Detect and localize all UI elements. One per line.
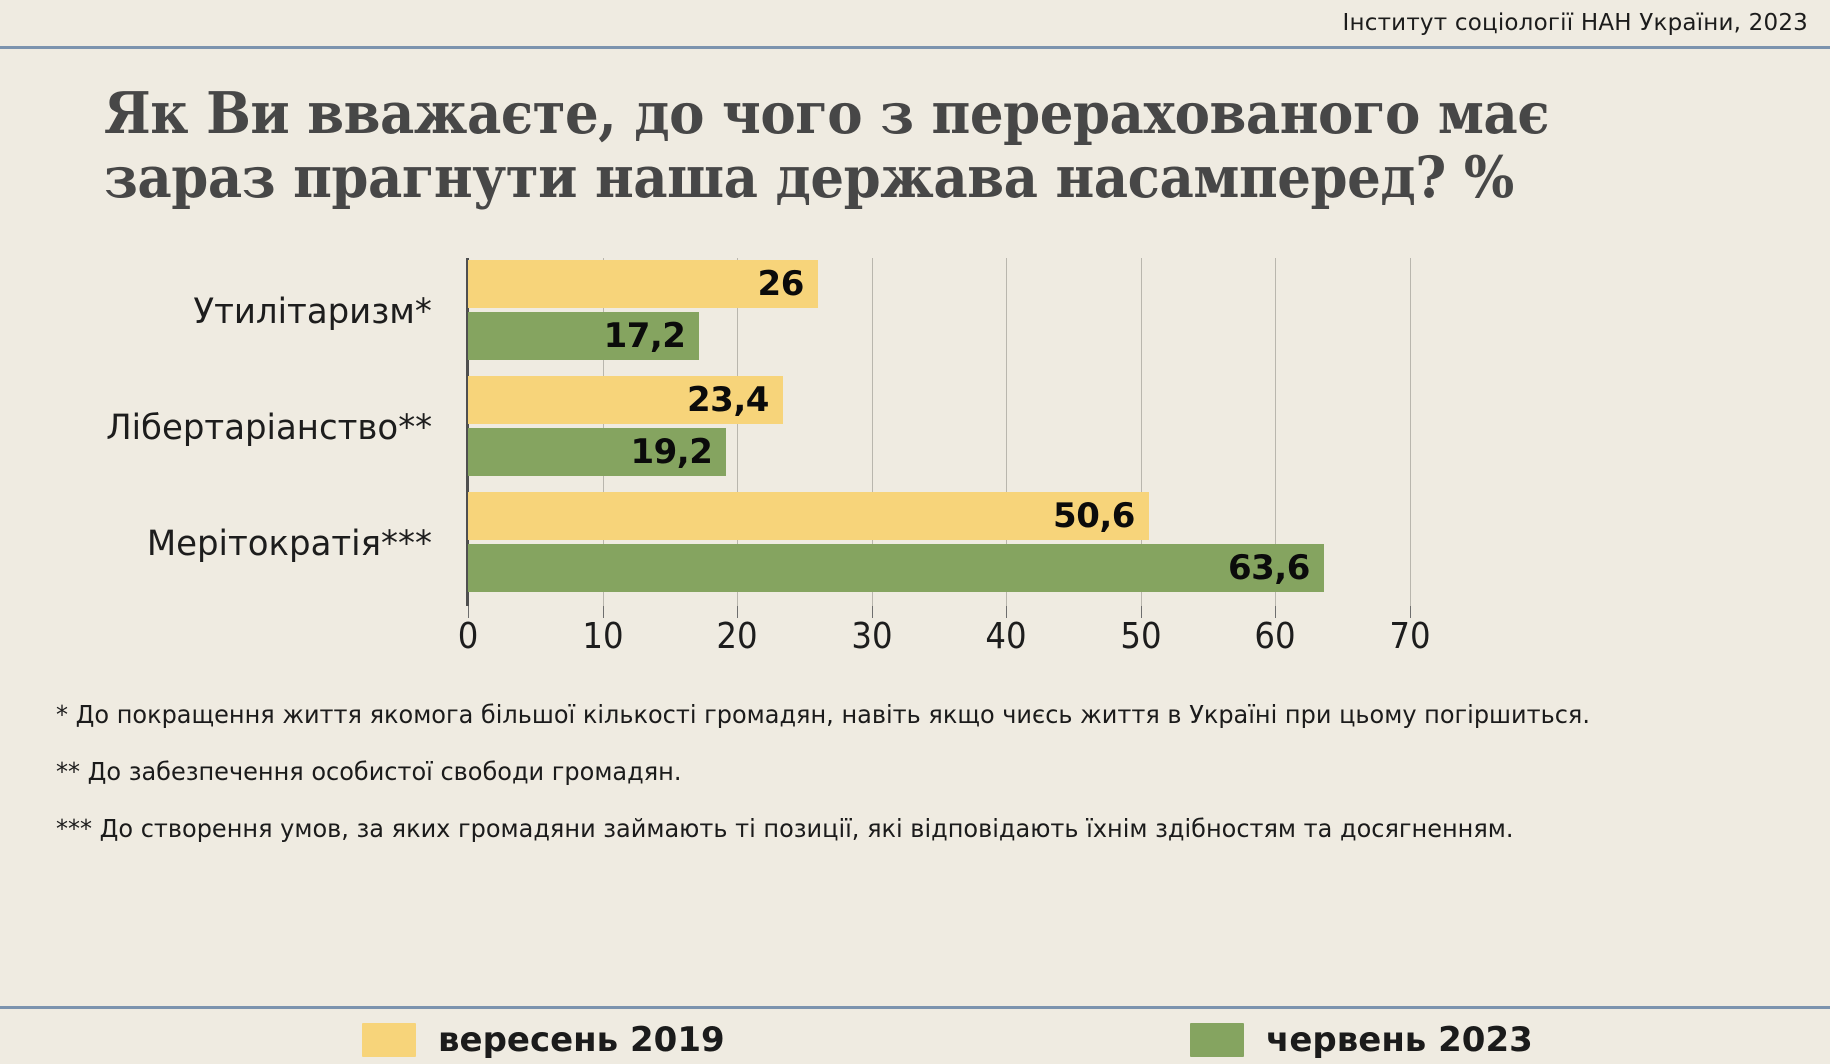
category-label: Утилітаризм* [194, 292, 432, 332]
source-attribution: Інститут соціології НАН України, 2023 [1343, 10, 1808, 36]
bottom-divider [0, 1006, 1830, 1009]
footnotes: * До покращення життя якомога більшої кі… [56, 700, 1776, 871]
bar-series-2023: 19,2 [468, 428, 726, 476]
legend-item[interactable]: червень 2023 [1190, 1020, 1533, 1060]
category-axis-labels: Утилітаризм*Лібертаріанство**Мерітократі… [0, 258, 450, 708]
legend-swatch [362, 1023, 416, 1057]
category-label: Мерітократія*** [147, 524, 432, 564]
axis-tick-label: 30 [851, 616, 892, 657]
bar-series-2023: 17,2 [468, 312, 699, 360]
page-title: Як Ви вважаєте, до чого з перерахованого… [104, 82, 1666, 210]
gridline [1410, 258, 1411, 606]
chart-legend: вересень 2019червень 2023 [0, 1016, 1830, 1064]
legend-item[interactable]: вересень 2019 [362, 1020, 725, 1060]
bar-series-2023: 63,6 [468, 544, 1324, 592]
footnote: ** До забезпечення особистої свободи гро… [56, 757, 1707, 786]
bar-value-label: 23,4 [687, 380, 769, 420]
legend-label: вересень 2019 [438, 1020, 725, 1060]
bar-series-2019: 23,4 [468, 376, 783, 424]
bar-series-2019: 50,6 [468, 492, 1149, 540]
axis-tick-label: 60 [1255, 616, 1296, 657]
footnote: *** До створення умов, за яких громадяни… [56, 814, 1707, 843]
top-divider [0, 46, 1830, 49]
axis-tick-label: 10 [582, 616, 623, 657]
bar-series-2019: 26 [468, 260, 818, 308]
plot-area: 0102030405060702617,223,419,250,663,6 [468, 258, 1410, 606]
page-title-line-1: Як Ви вважаєте, до чого з перерахованого… [104, 82, 1666, 146]
axis-tick-label: 70 [1389, 616, 1430, 657]
bar-value-label: 17,2 [604, 316, 686, 356]
bar-value-label: 26 [758, 264, 804, 304]
bar-value-label: 19,2 [630, 432, 712, 472]
page-title-line-2: зараз прагнути наша держава насамперед? … [104, 146, 1666, 210]
axis-tick-label: 50 [1120, 616, 1161, 657]
bar-value-label: 50,6 [1053, 496, 1135, 536]
bar-chart: Утилітаризм*Лібертаріанство**Мерітократі… [0, 258, 1830, 718]
category-label: Лібертаріанство** [106, 408, 432, 448]
axis-tick-label: 20 [717, 616, 758, 657]
footnote: * До покращення життя якомога більшої кі… [56, 700, 1707, 729]
legend-label: червень 2023 [1266, 1020, 1533, 1060]
axis-tick-label: 40 [986, 616, 1027, 657]
legend-swatch [1190, 1023, 1244, 1057]
axis-tick-label: 0 [458, 616, 479, 657]
bar-value-label: 63,6 [1228, 548, 1310, 588]
